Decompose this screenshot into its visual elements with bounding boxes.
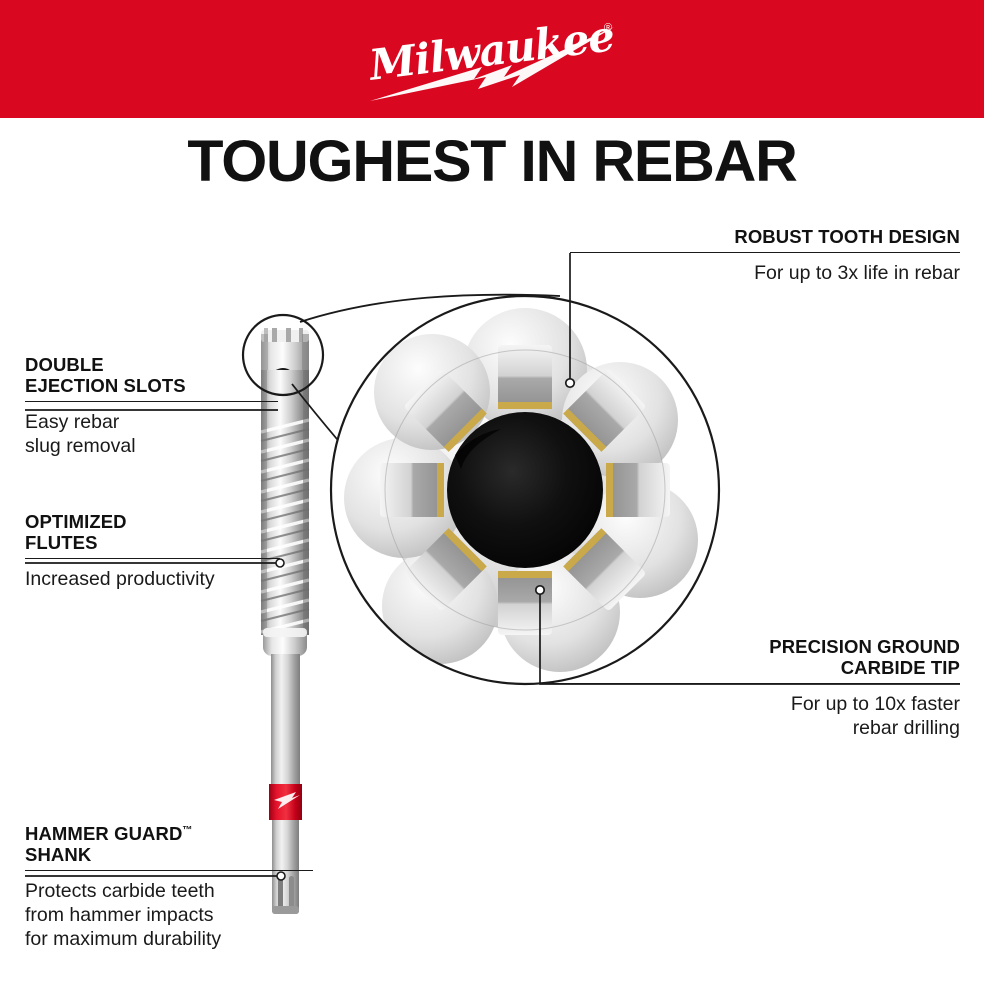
callout-heading-robust-tooth: ROBUST TOOTH DESIGN [570, 226, 960, 247]
heading-line-2: EJECTION SLOTS [25, 375, 278, 396]
body-line-1: Protects carbide teeth [25, 879, 313, 903]
body-line-1: For up to 10x faster [545, 692, 960, 716]
svg-text:®: ® [604, 22, 612, 34]
bit-collar [263, 628, 307, 656]
heading-line-2: SHANK [25, 844, 313, 865]
callout-rule [25, 870, 313, 871]
heading-line-1: OPTIMIZED [25, 511, 280, 532]
callout-rule [25, 558, 280, 559]
magnified-tip-view [331, 296, 719, 684]
callout-body-ejection: Easy rebar slug removal [25, 410, 278, 458]
callout-body-flutes: Increased productivity [25, 567, 280, 591]
milwaukee-logo: Milwaukee ® [0, 0, 984, 118]
callout-hammer-guard-shank: HAMMER GUARD™ SHANK Protects carbide tee… [25, 820, 313, 951]
callout-optimized-flutes: OPTIMIZED FLUTES Increased productivity [25, 511, 280, 591]
callout-heading-carbide: PRECISION GROUND CARBIDE TIP [545, 636, 960, 678]
callout-rule [25, 401, 278, 402]
milwaukee-logo-icon: Milwaukee ® [362, 9, 622, 109]
body-line-3: for maximum durability [25, 927, 313, 951]
leader-lines [540, 253, 960, 684]
body-line-2: rebar drilling [545, 716, 960, 740]
heading-line-1: PRECISION GROUND [545, 636, 960, 657]
heading-line-2: CARBIDE TIP [545, 657, 960, 678]
callout-robust-tooth-design: ROBUST TOOTH DESIGN For up to 3x life in… [570, 226, 960, 285]
leader-dot-carbide-tip [536, 586, 544, 594]
callout-double-ejection-slots: DOUBLE EJECTION SLOTS Easy rebar slug re… [25, 354, 278, 458]
body-line-2: from hammer impacts [25, 903, 313, 927]
body-line-1: Easy rebar [25, 410, 278, 434]
bit-shank-upper [271, 654, 300, 784]
brand-header: Milwaukee ® [0, 0, 984, 118]
heading-line-1: HAMMER GUARD™ [25, 820, 313, 844]
carbide-teeth [380, 345, 670, 635]
brand-band [269, 784, 302, 820]
callout-rule [570, 252, 960, 253]
callout-body-hammer-guard: Protects carbide teeth from hammer impac… [25, 879, 313, 951]
heading-line-1: DOUBLE [25, 354, 278, 375]
page-title: TOUGHEST IN REBAR [0, 131, 984, 193]
callout-body-carbide: For up to 10x faster rebar drilling [545, 692, 960, 740]
heading-line-2: FLUTES [25, 532, 280, 553]
callout-heading-flutes: OPTIMIZED FLUTES [25, 511, 280, 553]
body-line-2: slug removal [25, 434, 278, 458]
infographic-page: Milwaukee ® TOUGHEST IN REBAR [0, 0, 984, 985]
leader-dot-robust-tooth [566, 379, 574, 387]
magnifier-circle-outline [331, 296, 719, 684]
callout-heading-ejection: DOUBLE EJECTION SLOTS [25, 354, 278, 396]
callout-heading-hammer-guard: HAMMER GUARD™ SHANK [25, 820, 313, 865]
callout-precision-ground-carbide-tip: PRECISION GROUND CARBIDE TIP For up to 1… [545, 636, 960, 740]
callout-rule [545, 683, 960, 684]
callout-body-robust-tooth: For up to 3x life in rebar [570, 261, 960, 285]
heading-text: HAMMER GUARD [25, 823, 182, 844]
magnifier-cone-lines [292, 295, 560, 617]
trademark-symbol: ™ [182, 825, 192, 836]
